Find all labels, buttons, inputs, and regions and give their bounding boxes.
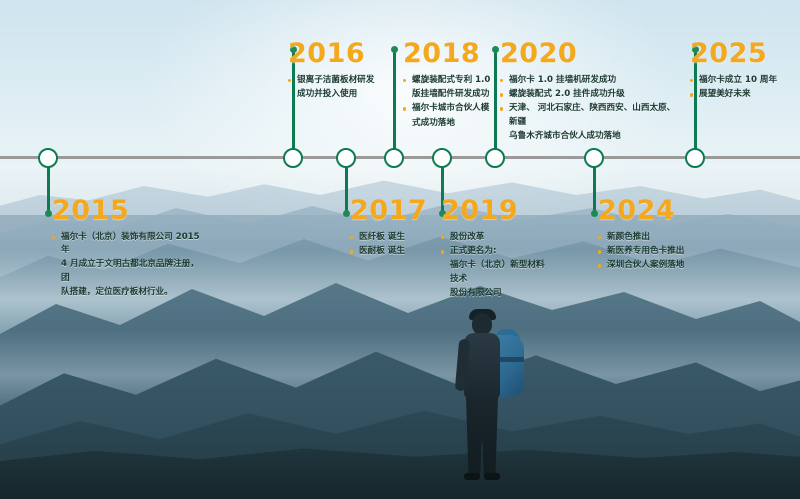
milestone-bullet: 螺旋装配式 2.0 挂件成功升级 [500, 88, 680, 101]
milestone-2024[interactable]: 2024 新颜色推出 新医养专用色卡推出 深圳合伙人案例落地 [598, 197, 718, 274]
milestone-year-2025: 2025 [690, 40, 796, 67]
timeline-stem-dot-2015 [45, 210, 52, 217]
milestone-bullets-2018: 螺旋装配式专利 1.0 版挂墙配件研发成功 福尔卡城市合伙人模 式成功落地 [403, 74, 507, 130]
milestone-bullet: 福尔卡（北京）装饰有限公司 2015 年 [52, 231, 204, 257]
milestone-bullet: 银离子洁菌板材研发 [288, 74, 392, 87]
milestone-bullet: 股份改革 [441, 231, 545, 244]
milestone-bullet-cont: 4 月成立于文明古都北京品牌注册，团 [52, 258, 204, 284]
milestone-year-2024: 2024 [598, 197, 718, 224]
milestone-bullets-2015: 福尔卡（北京）装饰有限公司 2015 年 4 月成立于文明古都北京品牌注册，团 … [52, 231, 204, 299]
timeline-stem-2015 [47, 166, 50, 214]
timeline-marker-2025[interactable] [685, 148, 705, 168]
milestone-bullet: 展望美好未来 [690, 88, 796, 101]
hiker-legs [466, 397, 498, 477]
milestone-bullet-cont: 版挂墙配件研发成功 [403, 88, 507, 101]
milestone-year-2017: 2017 [350, 197, 446, 224]
milestone-bullet-cont: 福尔卡（北京）新型材料技术 [441, 259, 545, 285]
timeline-marker-2018[interactable] [384, 148, 404, 168]
milestone-bullet: 福尔卡成立 10 周年 [690, 74, 796, 87]
timeline-infographic: 2016 银离子洁菌板材研发 成功并投入使用 2018 螺旋装配式专利 1.0 … [0, 0, 800, 499]
milestone-bullets-2016: 银离子洁菌板材研发 成功并投入使用 [288, 74, 392, 101]
timeline-marker-2020[interactable] [485, 148, 505, 168]
milestone-bullet: 福尔卡 1.0 挂墙机研发成功 [500, 74, 680, 87]
timeline-marker-2024[interactable] [584, 148, 604, 168]
milestone-year-2016: 2016 [288, 40, 392, 67]
hiker-head [472, 313, 492, 335]
milestone-bullet-cont: 股份有限公司 [441, 287, 545, 300]
hiker-shoe-left [464, 473, 480, 480]
milestone-bullets-2024: 新颜色推出 新医养专用色卡推出 深圳合伙人案例落地 [598, 231, 718, 273]
milestone-2020[interactable]: 2020 福尔卡 1.0 挂墙机研发成功 螺旋装配式 2.0 挂件成功升级 天津… [500, 40, 680, 144]
milestone-bullet-cont: 成功并投入使用 [288, 88, 392, 101]
timeline-marker-2015[interactable] [38, 148, 58, 168]
hiker-shoe-right [484, 473, 500, 480]
timeline-stem-2018 [393, 48, 396, 150]
milestone-year-2015: 2015 [52, 197, 204, 224]
milestone-year-2020: 2020 [500, 40, 680, 67]
milestone-2025[interactable]: 2025 福尔卡成立 10 周年 展望美好未来 [690, 40, 796, 102]
timeline-stem-2017 [345, 166, 348, 214]
milestone-bullets-2025: 福尔卡成立 10 周年 展望美好未来 [690, 74, 796, 101]
milestone-bullet: 医耐板 诞生 [350, 245, 446, 258]
milestone-2018[interactable]: 2018 螺旋装配式专利 1.0 版挂墙配件研发成功 福尔卡城市合伙人模 式成功… [403, 40, 507, 131]
milestone-bullets-2020: 福尔卡 1.0 挂墙机研发成功 螺旋装配式 2.0 挂件成功升级 天津、 河北石… [500, 74, 680, 143]
milestone-2017[interactable]: 2017 医纤板 诞生 医耐板 诞生 [350, 197, 446, 259]
milestone-bullet: 新医养专用色卡推出 [598, 245, 718, 258]
milestone-bullet: 天津、 河北石家庄、陕西西安、山西太原、新疆 [500, 102, 680, 128]
timeline-marker-2017[interactable] [336, 148, 356, 168]
milestone-bullet: 深圳合伙人案例落地 [598, 259, 718, 272]
milestone-year-2019: 2019 [441, 197, 545, 224]
milestone-year-2018: 2018 [403, 40, 507, 67]
milestone-bullet-cont: 队搭建，定位医疗板材行业。 [52, 286, 204, 299]
milestone-bullets-2017: 医纤板 诞生 医耐板 诞生 [350, 231, 446, 258]
milestone-bullets-2019: 股份改革 正式更名为: 福尔卡（北京）新型材料技术 股份有限公司 [441, 231, 545, 300]
timeline-stem-dot-2018 [391, 46, 398, 53]
timeline-stem-2024 [593, 166, 596, 214]
milestone-bullet: 正式更名为: [441, 245, 545, 258]
milestone-bullet-cont: 式成功落地 [403, 117, 507, 130]
milestone-bullet: 福尔卡城市合伙人模 [403, 102, 507, 115]
milestone-2016[interactable]: 2016 银离子洁菌板材研发 成功并投入使用 [288, 40, 392, 102]
milestone-bullet-cont: 乌鲁木齐城市合伙人成功落地 [500, 130, 680, 143]
milestone-2019[interactable]: 2019 股份改革 正式更名为: 福尔卡（北京）新型材料技术 股份有限公司 [441, 197, 545, 301]
timeline-stem-dot-2017 [343, 210, 350, 217]
milestone-bullet: 新颜色推出 [598, 231, 718, 244]
milestone-2015[interactable]: 2015 福尔卡（北京）装饰有限公司 2015 年 4 月成立于文明古都北京品牌… [52, 197, 204, 300]
milestone-bullet: 螺旋装配式专利 1.0 [403, 74, 507, 87]
milestone-bullet: 医纤板 诞生 [350, 231, 446, 244]
timeline-stem-dot-2024 [591, 210, 598, 217]
timeline-marker-2019[interactable] [432, 148, 452, 168]
timeline-marker-2016[interactable] [283, 148, 303, 168]
hiker-silhouette [440, 305, 550, 499]
